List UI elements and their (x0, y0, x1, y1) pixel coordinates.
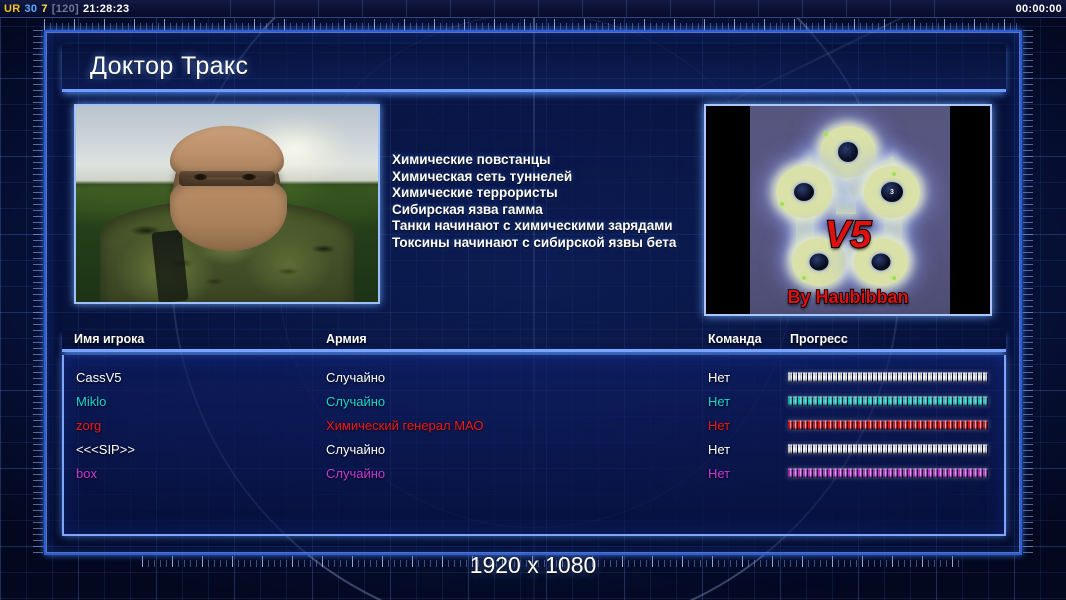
window-title-bar: Доктор Тракс (62, 44, 1006, 92)
player-list: Имя игрока Армия Команда Прогресс CassV5… (62, 330, 1006, 536)
player-name[interactable]: CassV5 (76, 370, 122, 385)
frame-bracket-value: [120] (52, 3, 79, 15)
table-row[interactable]: <<<SIP>> Случайно Нет (64, 437, 1004, 461)
player-list-body: CassV5 Случайно Нет Miklo Случайно Нет z… (62, 355, 1006, 536)
ruler-left (33, 30, 43, 555)
map-resource-dot (780, 202, 784, 206)
map-spawn-island (776, 166, 832, 218)
player-progress (788, 373, 988, 382)
table-row[interactable]: Miklo Случайно Нет (64, 389, 1004, 413)
resolution-label: 1920 x 1080 (0, 552, 1066, 579)
ruler-right (1023, 30, 1033, 555)
player-name[interactable]: Miklo (76, 394, 106, 409)
player-name[interactable]: <<<SIP>> (76, 442, 135, 457)
portrait-eye-band (179, 171, 276, 187)
status-bar-ticks (230, 0, 946, 17)
app-background: UR 30 7 [120] 21:28:23 00:00:00 Доктор Т… (0, 0, 1066, 600)
map-spawn-point (794, 183, 814, 201)
map-spawn-island (820, 126, 876, 178)
table-row[interactable]: zorg Химический генерал МАО Нет (64, 413, 1004, 437)
map-author-label: By Haubibban (706, 287, 990, 308)
player-team[interactable]: Нет (708, 418, 730, 433)
ur-value: 30 (25, 3, 38, 15)
player-army[interactable]: Случайно (326, 370, 385, 385)
map-version-label: V5 (706, 214, 990, 257)
player-progress (788, 469, 988, 478)
player-progress (788, 421, 988, 430)
column-header-army: Армия (326, 332, 367, 346)
player-name[interactable]: zorg (76, 418, 101, 433)
player-army[interactable]: Случайно (326, 442, 385, 457)
player-army[interactable]: Химический генерал МАО (326, 418, 484, 433)
status-bar-left: UR 30 7 [120] 21:28:23 (0, 3, 129, 15)
player-team[interactable]: Нет (708, 370, 730, 385)
player-progress (788, 445, 988, 454)
portrait-eye-right (242, 174, 256, 180)
map-resource-dot (824, 132, 828, 136)
map-resource-dot (892, 172, 896, 176)
general-portrait-frame (74, 104, 380, 304)
system-clock: 21:28:23 (83, 3, 129, 15)
map-resource-dot (892, 276, 896, 280)
description-line: Химические террористы (392, 185, 732, 202)
fps-value: 7 (41, 3, 47, 15)
status-bar: UR 30 7 [120] 21:28:23 00:00:00 (0, 0, 1066, 18)
column-header-progress: Прогресс (790, 332, 848, 346)
column-header-team: Команда (708, 332, 762, 346)
map-preview-frame[interactable]: 3 V5 By Haubibban (704, 104, 992, 316)
match-timer: 00:00:00 (1016, 3, 1066, 15)
player-team[interactable]: Нет (708, 466, 730, 481)
map-letterbox-right (946, 106, 990, 314)
player-army[interactable]: Случайно (326, 466, 385, 481)
info-row: Химические повстанцы Химическая сеть тун… (62, 104, 1006, 320)
map-spawn-point (838, 142, 858, 162)
general-portrait-image (76, 106, 378, 302)
description-line: Химическая сеть туннелей (392, 169, 732, 186)
map-spawn-point: 3 (881, 182, 903, 202)
map-resource-dot (802, 276, 806, 280)
player-team[interactable]: Нет (708, 442, 730, 457)
player-army[interactable]: Случайно (326, 394, 385, 409)
ur-label: UR (4, 3, 21, 15)
player-progress (788, 397, 988, 406)
portrait-eye-left (194, 174, 208, 180)
description-line: Химические повстанцы (392, 152, 732, 169)
player-team[interactable]: Нет (708, 394, 730, 409)
page-title: Доктор Тракс (62, 52, 248, 81)
player-name[interactable]: box (76, 466, 97, 481)
ruler-top (44, 19, 1022, 30)
lobby-window: Доктор Тракс (44, 30, 1022, 555)
map-preview-canvas: 3 (750, 106, 950, 314)
general-description: Химические повстанцы Химическая сеть тун… (392, 152, 732, 252)
player-list-header: Имя игрока Армия Команда Прогресс (62, 330, 1006, 352)
table-row[interactable]: CassV5 Случайно Нет (64, 365, 1004, 389)
table-row[interactable]: box Случайно Нет (64, 461, 1004, 485)
column-header-name: Имя игрока (74, 332, 144, 346)
description-line: Сибирская язва гамма (392, 202, 732, 219)
map-letterbox-left (706, 106, 750, 314)
description-line: Танки начинают с химическими зарядами (392, 218, 732, 235)
description-line: Токсины начинают с сибирской язвы бета (392, 235, 732, 252)
